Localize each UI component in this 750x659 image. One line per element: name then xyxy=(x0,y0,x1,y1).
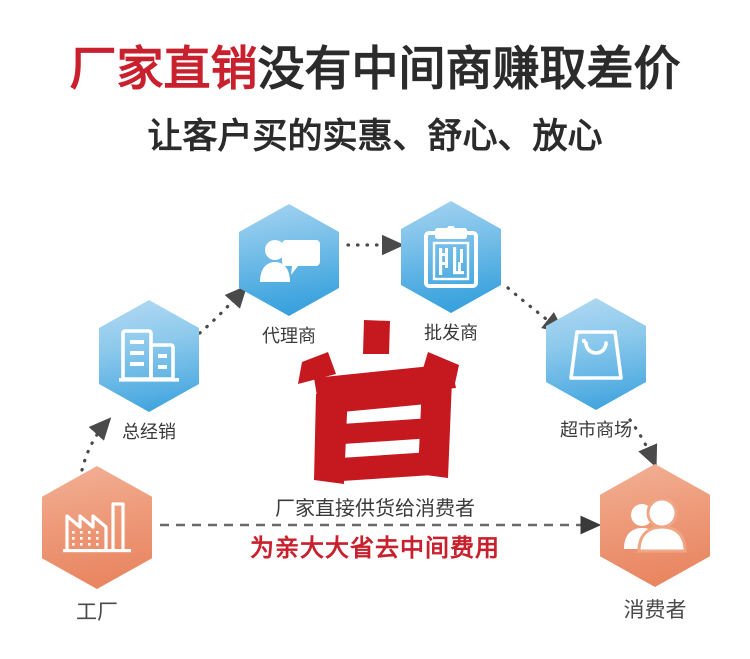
node-consumer[interactable]: 消费者 xyxy=(600,464,710,587)
agent-hexagon xyxy=(239,204,339,316)
consumer-label: 消费者 xyxy=(624,588,687,624)
node-factory[interactable]: 工厂 xyxy=(42,466,152,589)
distributor-hexagon xyxy=(99,300,199,412)
node-wholesaler[interactable]: 批发商 xyxy=(401,201,501,313)
edge-factory-to-distributor xyxy=(82,422,107,470)
node-market[interactable]: 超市商场 xyxy=(546,298,646,410)
people-icon xyxy=(622,499,688,553)
savings-label: 为亲大大省去中间费用 xyxy=(185,528,565,563)
market-label: 超市商场 xyxy=(560,410,632,442)
consumer-hexagon xyxy=(600,464,710,587)
stamp-character-sheng xyxy=(296,318,468,488)
shopping-bag-icon xyxy=(567,326,625,382)
supply-chain-diagram: 代理商 xyxy=(0,0,750,659)
poster-canvas: 厂家直销没有中间商赚取差价 让客户买的实惠、舒心、放心 xyxy=(0,0,750,659)
node-distributor[interactable]: 总经销 xyxy=(99,300,199,412)
clipboard-批-icon xyxy=(424,226,478,288)
edge-market-to-consumer xyxy=(630,420,654,462)
person-chat-icon xyxy=(258,234,320,286)
factory-label: 工厂 xyxy=(76,590,118,626)
building-icon xyxy=(119,328,179,384)
distributor-label: 总经销 xyxy=(122,412,176,444)
factory-icon xyxy=(63,500,131,556)
direct-supply-label: 厂家直接供货给消费者 xyxy=(185,492,565,521)
factory-hexagon xyxy=(42,466,152,589)
market-hexagon xyxy=(546,298,646,410)
wholesaler-hexagon xyxy=(401,201,501,313)
node-agent[interactable]: 代理商 xyxy=(239,204,339,316)
